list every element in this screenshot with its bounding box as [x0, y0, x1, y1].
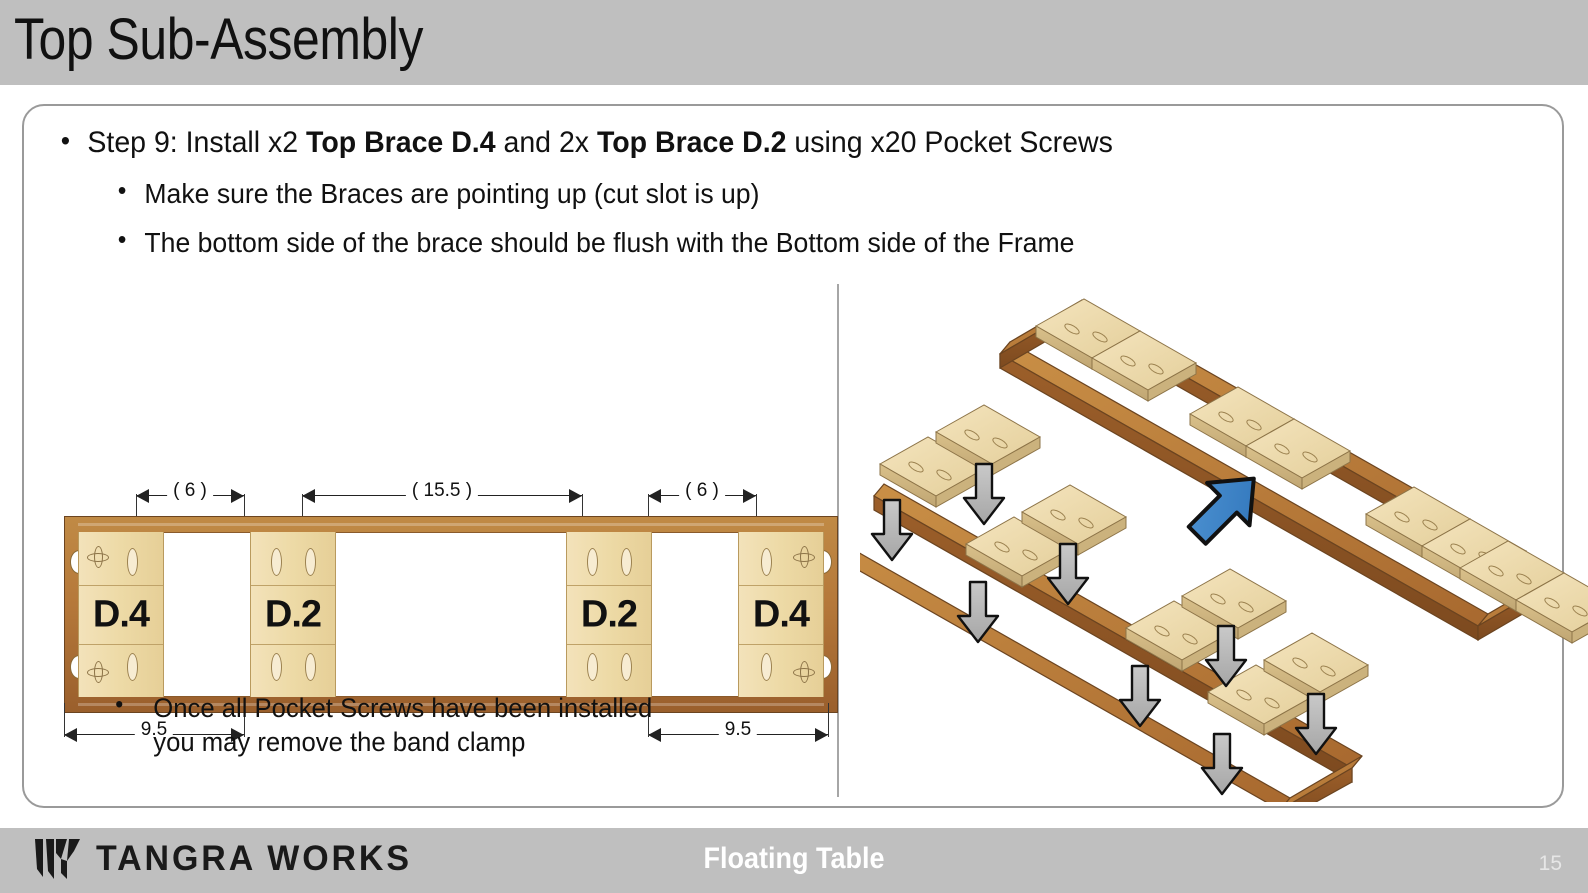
- brace-d4-left: D.4: [78, 532, 164, 697]
- top-dimension-row: ( 6 ) ( 15.5 ) ( 6 ): [24, 476, 836, 516]
- note-line-2: you may remove the band clamp: [102, 726, 710, 760]
- pocket-screw-icon: [87, 546, 109, 568]
- note-line-1: Once all Pocket Screws have been install…: [102, 692, 710, 726]
- slide-title-bar: Top Sub-Assembly: [0, 0, 1588, 85]
- slide-footer: TANGRA WORKS Floating Table 15: [0, 828, 1588, 893]
- frame-inner-opening: [78, 532, 824, 697]
- pocket-screw-icon: [793, 661, 815, 683]
- dimension-center-15-5: ( 15.5 ): [302, 476, 582, 516]
- bullet-marker-icon: •: [118, 223, 127, 256]
- brace-label-d2-right: D.2: [581, 593, 637, 636]
- pocket-slot-icon: [305, 548, 316, 576]
- bullet-step-9-post: using x20 Pocket Screws: [786, 126, 1112, 159]
- pocket-slot-icon: [305, 653, 316, 681]
- pocket-slot-icon: [761, 653, 772, 681]
- page-number: 15: [1539, 852, 1562, 876]
- pocket-slot-icon: [271, 548, 282, 576]
- frame-plan: D.4 D.2 D.2: [64, 516, 838, 713]
- dimension-right-6: ( 6 ): [648, 476, 756, 516]
- brace-label-d4-left: D.4: [93, 593, 149, 636]
- note-band-clamp: • Once all Pocket Screws have been insta…: [102, 692, 710, 760]
- brace-d2-left: D.2: [250, 532, 336, 697]
- brace-d4-right: D.4: [738, 532, 824, 697]
- bullet-step-9-pre: Step 9: Install x2: [87, 126, 306, 159]
- assembled-frame-group: [1000, 299, 1588, 643]
- bullet-sub-1-text: Make sure the Braces are pointing up (cu…: [144, 178, 759, 209]
- isometric-assembly-illustration: [860, 282, 1588, 802]
- pocket-slot-icon: [587, 548, 598, 576]
- dimension-right-6-value: ( 6 ): [679, 480, 725, 502]
- pocket-screw-icon: [87, 661, 109, 683]
- bullet-step-9: •Step 9: Install x2 Top Brace D.4 and 2x…: [38, 124, 1463, 162]
- page-title: Top Sub-Assembly: [14, 6, 423, 73]
- bullet-step-9-bold-d2: Top Brace D.2: [597, 126, 787, 159]
- plan-view-drawing: ( 6 ) ( 15.5 ) ( 6 ): [24, 368, 836, 658]
- tangra-logo-mark-icon: [34, 837, 82, 881]
- bullet-marker-icon: •: [118, 174, 127, 207]
- content-panel: •Step 9: Install x2 Top Brace D.4 and 2x…: [22, 104, 1564, 808]
- bullet-marker-icon: •: [115, 690, 123, 720]
- brace-label-d4-right: D.4: [753, 593, 809, 636]
- pocket-slot-icon: [127, 548, 138, 576]
- footer-project-title: Floating Table: [79, 842, 1508, 876]
- footer-gap: [0, 816, 1588, 828]
- pocket-screw-icon: [793, 546, 815, 568]
- bullet-step-9-mid: and 2x: [496, 126, 597, 159]
- assembled-braces: [1036, 299, 1588, 643]
- dimension-left-6: ( 6 ): [136, 476, 244, 516]
- frame-rail-top-highlight: [78, 523, 824, 526]
- bullet-step-9-bold-d4: Top Brace D.4: [306, 126, 496, 159]
- bullet-sub-2-text: The bottom side of the brace should be f…: [144, 227, 1074, 258]
- bullet-marker-icon: •: [61, 123, 70, 158]
- dimension-center-15-5-value: ( 15.5 ): [406, 480, 478, 502]
- dimension-left-6-value: ( 6 ): [167, 480, 213, 502]
- brace-d2-right: D.2: [566, 532, 652, 697]
- bullet-sub-1: •Make sure the Braces are pointing up (c…: [38, 176, 1463, 211]
- pocket-slot-icon: [761, 548, 772, 576]
- instruction-list: •Step 9: Install x2 Top Brace D.4 and 2x…: [38, 124, 1538, 260]
- dimension-bottom-right-9-5-value: 9.5: [719, 719, 757, 741]
- brace-label-d2-left: D.2: [265, 593, 321, 636]
- pocket-slot-icon: [127, 653, 138, 681]
- pocket-slot-icon: [271, 653, 282, 681]
- pocket-slot-icon: [621, 653, 632, 681]
- pocket-slot-icon: [621, 548, 632, 576]
- bullet-sub-2: •The bottom side of the brace should be …: [38, 225, 1463, 260]
- pocket-slot-icon: [587, 653, 598, 681]
